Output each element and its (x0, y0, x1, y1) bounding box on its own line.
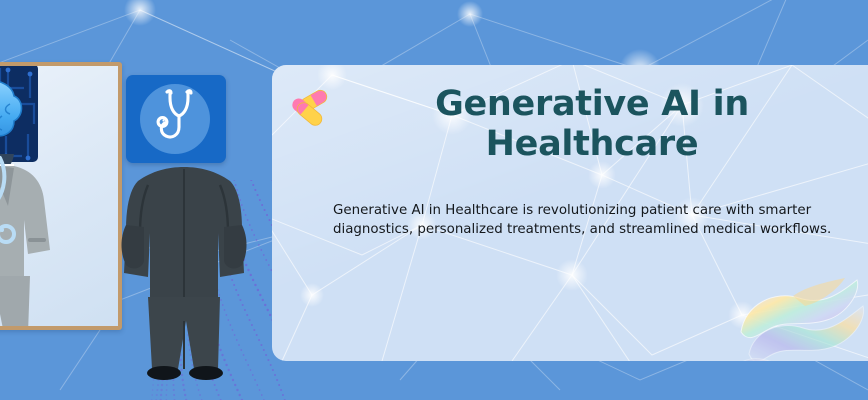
brain-circuit-icon (0, 66, 38, 162)
doctor-dark-suit-screenhead-figure (118, 75, 250, 375)
brain-shape (0, 76, 26, 150)
stethoscope-icon (154, 89, 200, 151)
body-paragraph: Generative AI in Healthcare is revolutio… (333, 201, 843, 239)
page-title-line-2: Healthcare (332, 125, 852, 165)
pills-capsule-icon (290, 87, 336, 129)
page-title-line-1: Generative AI in (332, 85, 852, 125)
dark-suit-body (118, 155, 250, 385)
content-card: Generative AI in Healthcare Generative A… (272, 65, 868, 361)
slide-canvas: Generative AI in Healthcare Generative A… (0, 0, 868, 400)
framed-brain-ai-picture (0, 62, 122, 330)
screen-head-panel (126, 75, 226, 163)
healthcare-illustration (0, 0, 290, 400)
page-title: Generative AI in Healthcare (332, 85, 852, 164)
doctor-grey-suit-figure (0, 154, 74, 326)
